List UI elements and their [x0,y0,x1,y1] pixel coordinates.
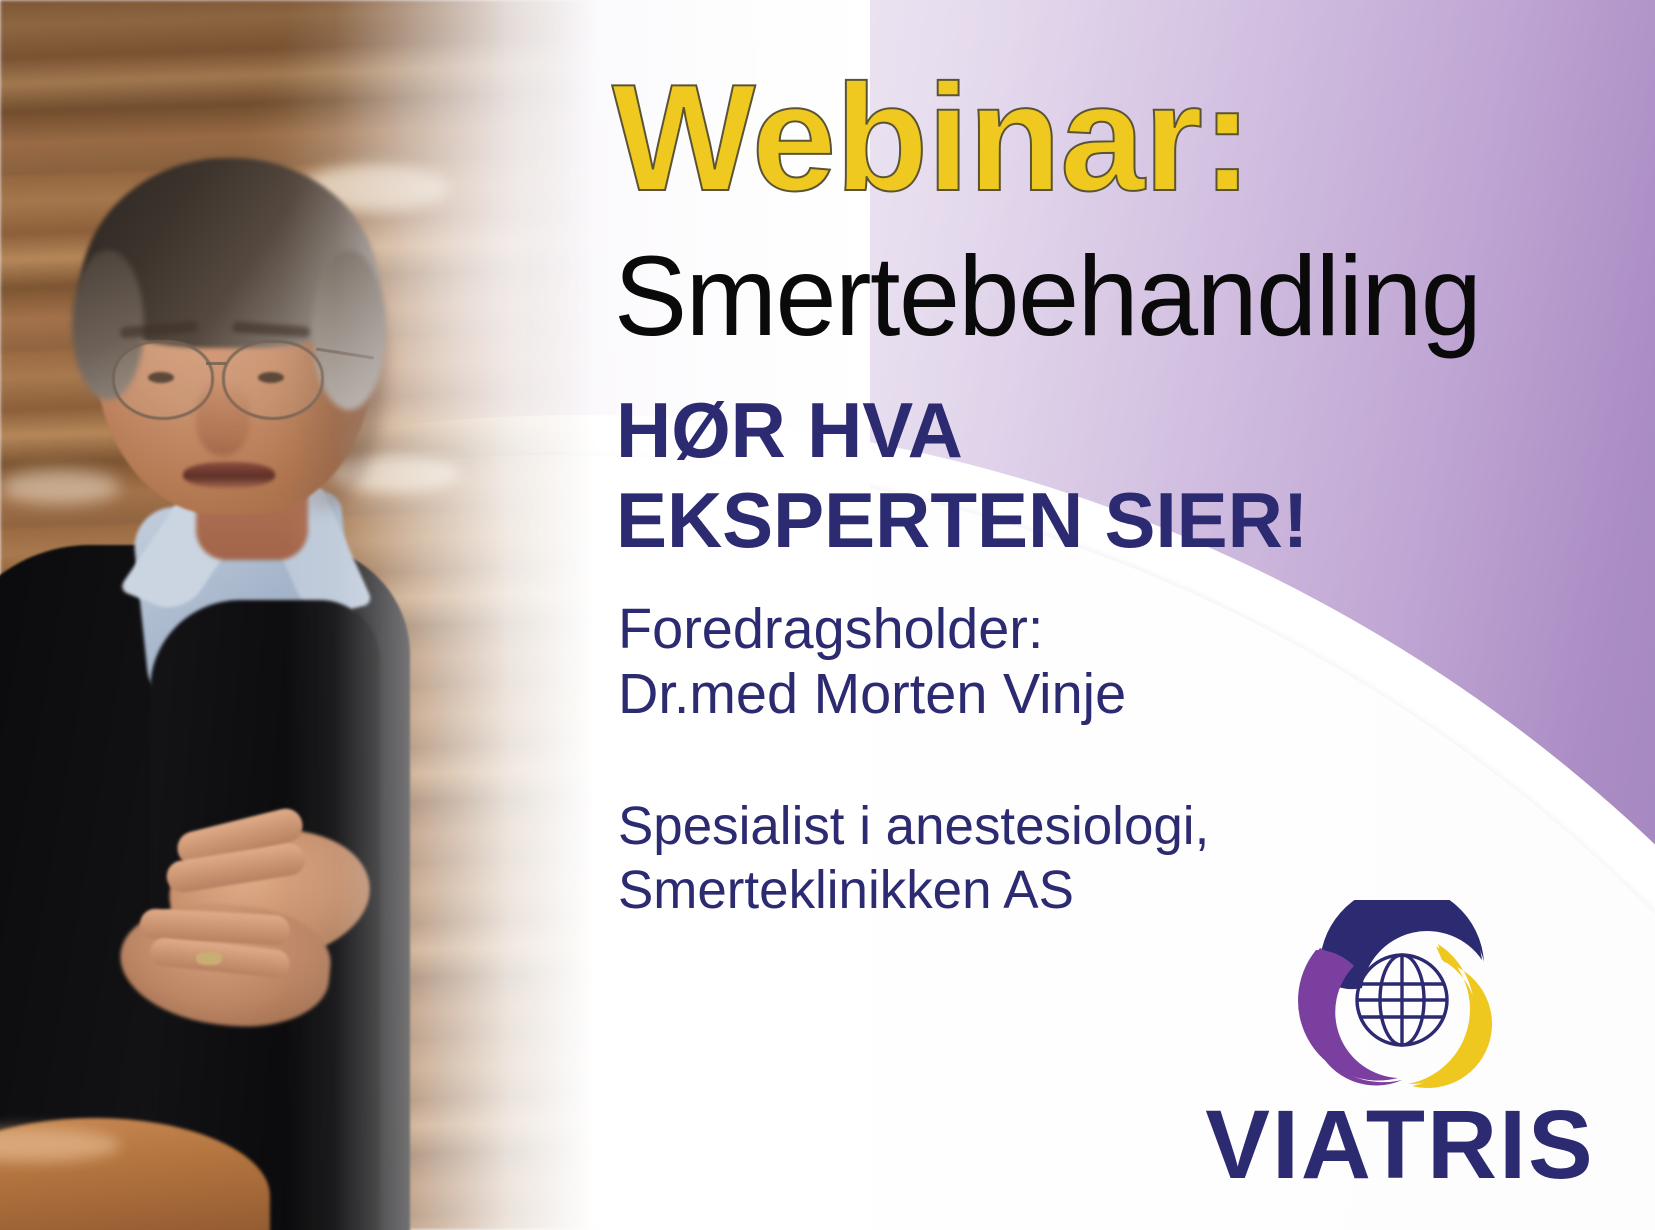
speaker-info: Foredragsholder: Dr.med Morten Vinje [618,597,1126,727]
speaker-credentials: Spesialist i anestesiologi, Smerteklinik… [618,795,1209,922]
viatris-logo-mark [1286,900,1516,1092]
kicker-webinar: Webinar: [612,62,1251,214]
title-topic: Smertebehandling [614,240,1480,353]
speaker-ring [196,952,222,965]
headline: HØR HVA EKSPERTEN SIER! [616,385,1308,566]
webinar-poster: Webinar: Smertebehandling HØR HVA EKSPER… [0,0,1655,1230]
speaker-nose [196,382,250,456]
viatris-wordmark: VIATRIS [1190,1096,1610,1193]
viatris-logo: VIATRIS [1190,900,1610,1210]
globe-swoosh-icon [1286,900,1516,1092]
speaker-glasses-bridge [206,362,226,365]
speaker-mouth [183,462,275,488]
speaker-photo [0,0,620,1230]
photo-wall-detail [0,470,120,504]
